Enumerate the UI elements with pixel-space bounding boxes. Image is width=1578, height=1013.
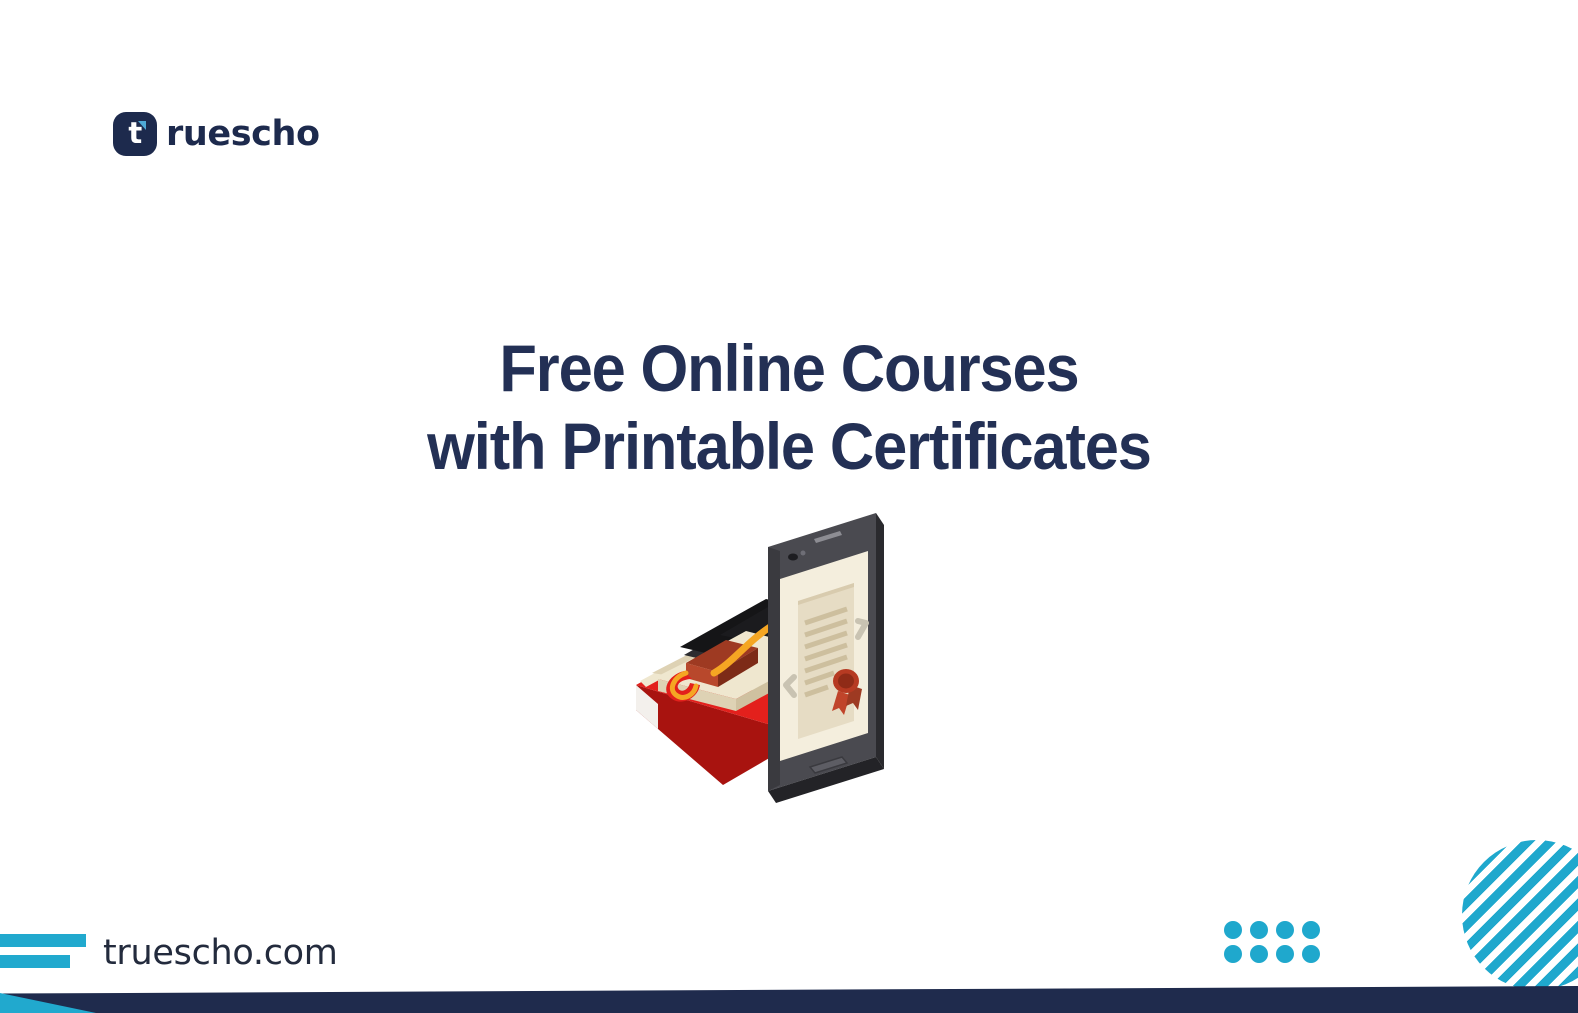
logo-accent-triangle-icon: [138, 121, 146, 130]
page-title: Free Online Courses with Printable Certi…: [55, 330, 1523, 486]
decorative-striped-circle: [1462, 840, 1578, 990]
grid-dot: [1250, 921, 1268, 939]
grid-dot: [1276, 921, 1294, 939]
grid-dot: [1224, 945, 1242, 963]
grid-dot: [1224, 921, 1242, 939]
brand-logo[interactable]: t ruescho: [113, 112, 320, 156]
grid-dot: [1302, 945, 1320, 963]
footer-accent-bars: [0, 934, 86, 976]
logo-letter: t: [113, 119, 157, 148]
smartphone-icon: [768, 513, 884, 803]
grid-dot: [1302, 921, 1320, 939]
footer-bar-bottom: [0, 955, 70, 968]
headline-line-2: with Printable Certificates: [55, 408, 1523, 486]
footer-band-navy: [0, 986, 1578, 1013]
certificate-document: [798, 583, 862, 739]
footer-band: [0, 986, 1578, 1013]
grid-dot: [1250, 945, 1268, 963]
decorative-dot-grid: [1224, 921, 1320, 963]
grid-dot: [1276, 945, 1294, 963]
truescho-logo-icon: t: [113, 112, 157, 156]
footer-url[interactable]: truescho.com: [103, 932, 338, 974]
brand-wordmark: ruescho: [166, 117, 320, 152]
headline-line-1: Free Online Courses: [55, 330, 1523, 408]
footer-bar-top: [0, 934, 86, 947]
online-certificate-illustration: [628, 495, 918, 805]
